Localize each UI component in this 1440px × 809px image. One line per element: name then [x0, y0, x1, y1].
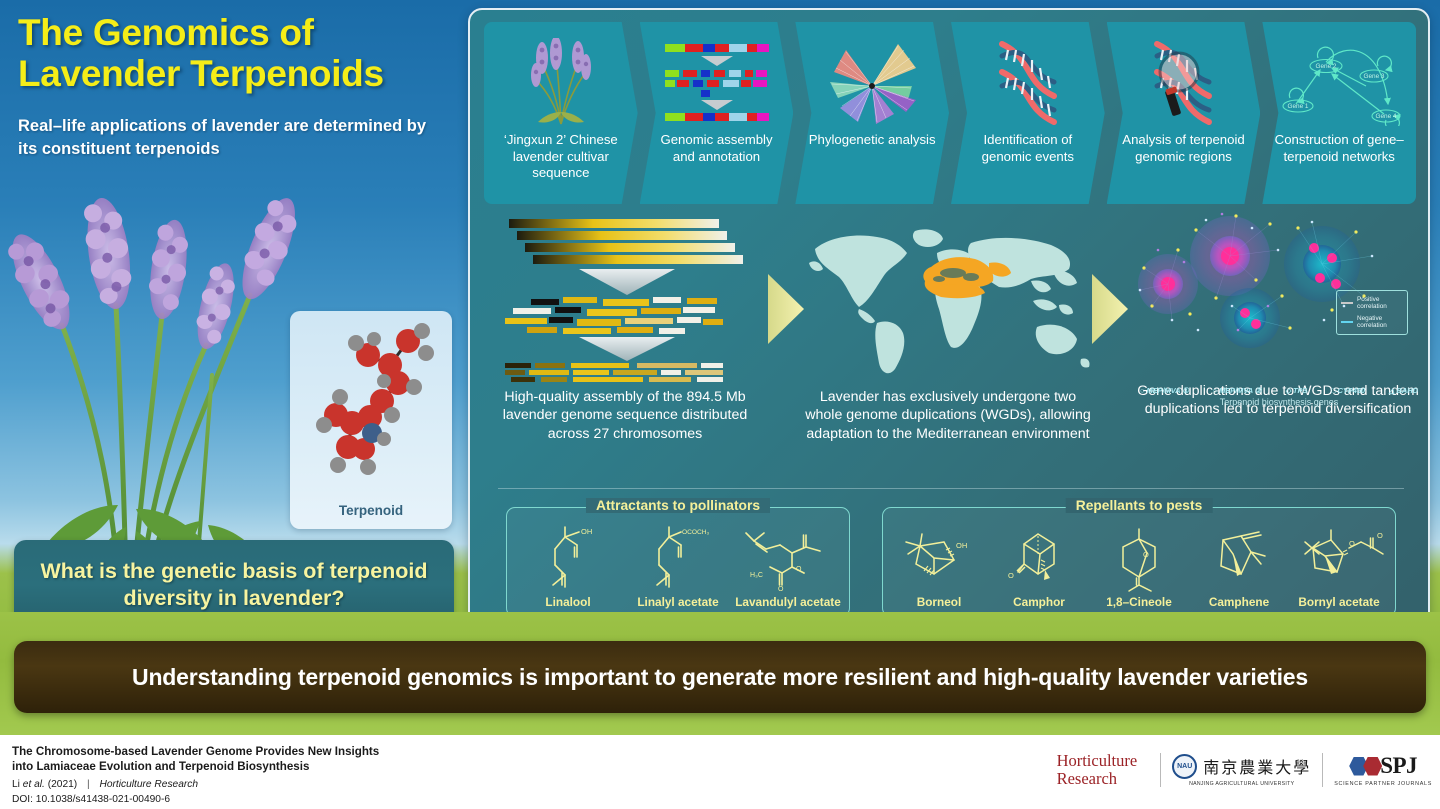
logo-divider-2	[1322, 753, 1323, 787]
molecule-name-bornyl-acetate: Bornyl acetate	[1298, 595, 1379, 609]
flow-arrow-2-icon	[1090, 272, 1130, 346]
terpenoid-label: Terpenoid	[290, 503, 452, 518]
main-content-panel: ‘Jingxun 2’ Chinese lavender cultivar se…	[468, 8, 1430, 628]
subtitle: Real–life applications of lavender are d…	[18, 115, 448, 161]
legend-positive-label: Positive correlation	[1357, 296, 1403, 311]
lavandulyl-o2-label: O	[778, 586, 784, 593]
hr-logo-line-2: Research	[1057, 770, 1138, 788]
molecule-name-camphor: Camphor	[1013, 595, 1065, 609]
workflow-step-4-label: Identification of genomic events	[951, 132, 1105, 165]
citation-author-name: Li	[12, 779, 20, 790]
diamond-symbol-icon: ◇	[1285, 386, 1291, 395]
hr-logo-line-1: Horticulture	[1057, 752, 1138, 770]
title-line-2: Lavender Terpenoids	[18, 53, 458, 94]
nau-chinese-name: 南京農業大學	[1203, 754, 1311, 778]
citation-journal: Horticulture Research	[100, 779, 199, 790]
gene-type-mep-mva-1: ○ MEP/MVA ①	[1140, 386, 1189, 395]
terpenoid-card: Terpenoid	[290, 311, 452, 529]
molecule-linalyl-acetate: OCOCH₃ Linalyl acetate	[623, 523, 733, 609]
linalool-structure-icon: OH	[535, 523, 601, 593]
square-symbol-icon: □	[1331, 386, 1335, 395]
gene-type-label-4: CYP450	[1338, 386, 1366, 395]
gene-type-mep-mva-2: ○ MEP/MVA ②	[1213, 386, 1262, 395]
page-title: The Genomics of Lavender Terpenoids	[18, 12, 458, 95]
result-caption-assembly: High-quality assembly of the 894.5 Mb la…	[482, 388, 768, 443]
molecule-name-linalyl-acetate: Linalyl acetate	[637, 595, 718, 609]
molecule-bornyl-acetate: O O Bornyl acetate	[1289, 523, 1389, 609]
spj-wordmark: SPJ	[1380, 753, 1417, 779]
gene-type-label-2: MEP/MVA ②	[1219, 386, 1261, 395]
infographic-poster: The Genomics of Lavender Terpenoids Real…	[0, 0, 1440, 809]
research-question-text: What is the genetic basis of terpenoid d…	[14, 558, 454, 612]
logo-divider-1	[1160, 753, 1161, 787]
gene-type-cyp450: □ CYP450	[1331, 386, 1365, 395]
workflow-step-1-label: ‘Jingxun 2’ Chinese lavender cultivar se…	[484, 132, 638, 182]
camphene-structure-icon	[1203, 523, 1275, 593]
conclusion-banner: Understanding terpenoid genomics is impo…	[14, 641, 1426, 713]
world-map-figure	[798, 210, 1098, 388]
borneol-oh-label: OH	[956, 541, 967, 550]
circle-symbol-icon: ○	[1140, 386, 1144, 395]
gene-network-figure: Positive correlation Negative correlatio…	[1132, 210, 1424, 382]
horticulture-research-logo: Horticulture Research	[1057, 752, 1150, 788]
spj-hexagon-icon	[1349, 757, 1377, 776]
attractants-title: Attractants to pollinators	[586, 498, 770, 513]
gene-node-2-label: Gene 2	[1316, 63, 1337, 70]
result-panel-networks: Positive correlation Negative correlatio…	[1132, 210, 1424, 478]
citation-title: The Chromosome-based Lavender Genome Pro…	[12, 744, 712, 775]
bornyl-o-label: O	[1349, 539, 1355, 548]
spj-logo-row: SPJ	[1349, 753, 1417, 779]
nau-logo-row: NAU 南京農業大學	[1172, 754, 1311, 779]
workflow-step-4: Identification of genomic events	[951, 22, 1105, 204]
legend-negative-correlation: Negative correlation	[1341, 315, 1403, 330]
workflow-step-6: Gene 1 Gene 2 Gene 3 Gene 4 Construction…	[1262, 22, 1416, 204]
molecule-camphene: Camphene	[1189, 523, 1289, 609]
workflow-step-2-label: Genomic assembly and annotation	[640, 132, 794, 165]
section-divider	[498, 488, 1404, 489]
gene-type-label-3: TPS	[1293, 386, 1307, 395]
molecule-name-borneol: Borneol	[917, 595, 962, 609]
citation-etal: et al.	[23, 779, 45, 790]
gene-type-bahd: △ BAHD	[1389, 386, 1418, 395]
molecule-linalool: OH Linalool	[513, 523, 623, 609]
workflow-step-5-label: Analysis of terpenoid genomic regions	[1107, 132, 1261, 165]
gene-type-tps: ◇ TPS	[1285, 386, 1307, 395]
title-line-1: The Genomics of	[18, 12, 458, 53]
molecule-name-cineole: 1,8–Cineole	[1106, 595, 1172, 609]
repellants-group: Repellants to pests	[882, 507, 1396, 617]
conclusion-text: Understanding terpenoid genomics is impo…	[132, 664, 1308, 691]
repellants-title: Repellants to pests	[1066, 498, 1213, 513]
molecule-name-camphene: Camphene	[1209, 595, 1269, 609]
citation-title-line-1: The Chromosome-based Lavender Genome Pro…	[12, 744, 712, 759]
footer: The Chromosome-based Lavender Genome Pro…	[0, 735, 1440, 809]
nanjing-agricultural-university-logo: NAU 南京農業大學 NANJING AGRICULTURAL UNIVERSI…	[1172, 754, 1311, 787]
citation-block: The Chromosome-based Lavender Genome Pro…	[12, 744, 712, 805]
citation-doi: DOI: 10.1038/s41438-021-00490-6	[12, 794, 712, 805]
result-panel-map: Lavender has exclusively undergone two w…	[798, 210, 1098, 478]
citation-title-line-2: into Lamiaceae Evolution and Terpenoid B…	[12, 759, 712, 774]
legend-negative-label: Negative correlation	[1357, 315, 1403, 330]
triangle-symbol-icon: △	[1389, 386, 1395, 395]
cineole-o-label: O	[1143, 550, 1149, 559]
citation-year: (2021)	[48, 779, 77, 790]
network-correlation-legend: Positive correlation Negative correlatio…	[1336, 290, 1408, 335]
cineole-structure-icon: O	[1105, 523, 1173, 593]
molecule-borneol: OH Borneol	[889, 523, 989, 609]
bornyl-acetate-structure-icon: O O	[1293, 523, 1385, 593]
molecule-lavandulyl-acetate: H₃C O O Lavandulyl acetate	[733, 523, 843, 609]
bornyl-o2-label: O	[1377, 531, 1383, 540]
citation-separator: |	[87, 779, 90, 790]
citation-authors: Li et al. (2021) | Horticulture Research	[12, 779, 712, 790]
workflow-step-2: Genomic assembly and annotation	[640, 22, 794, 204]
molecule-cineole: O 1,8–Cineole	[1089, 523, 1189, 609]
legend-positive-correlation: Positive correlation	[1341, 296, 1403, 311]
nau-seal-icon: NAU	[1172, 754, 1197, 779]
nau-english-name: NANJING AGRICULTURAL UNIVERSITY	[1189, 781, 1294, 787]
camphor-structure-icon: O	[1008, 523, 1070, 593]
results-row: High-quality assembly of the 894.5 Mb la…	[478, 210, 1424, 478]
workflow-step-3: Phylogenetic analysis	[795, 22, 949, 204]
result-panel-assembly: High-quality assembly of the 894.5 Mb la…	[482, 210, 768, 478]
linalyl-acetate-structure-icon: OCOCH₃	[641, 523, 715, 593]
gene-network-icon: Gene 1 Gene 2 Gene 3 Gene 4	[1262, 34, 1416, 130]
positive-correlation-line-icon	[1341, 302, 1353, 304]
result-caption-map: Lavender has exclusively undergone two w…	[798, 388, 1098, 443]
publisher-logos: Horticulture Research NAU 南京農業大學 NANJING…	[1057, 747, 1432, 793]
phylogenetic-tree-icon	[795, 34, 949, 130]
linalyl-acetate-ococh3-label: OCOCH₃	[682, 529, 710, 536]
attractants-group: Attractants to pollinators	[506, 507, 850, 617]
workflow-step-5: Analysis of terpenoid genomic regions	[1107, 22, 1261, 204]
genome-assembly-contigs-figure	[482, 210, 768, 388]
negative-correlation-line-icon	[1341, 321, 1353, 323]
borneol-structure-icon: OH	[900, 523, 978, 593]
dna-magnifier-icon	[1107, 34, 1261, 130]
workflow-steps: ‘Jingxun 2’ Chinese lavender cultivar se…	[484, 22, 1418, 204]
genome-annotation-icon	[640, 34, 794, 130]
lavender-plant-icon	[484, 34, 638, 130]
molecule-camphor: O Camphor	[989, 523, 1089, 609]
camphor-o-label: O	[1008, 571, 1014, 580]
workflow-step-3-label: Phylogenetic analysis	[801, 132, 944, 149]
gene-type-row: ○ MEP/MVA ① ○ MEP/MVA ② ◇ TPS	[1138, 386, 1420, 395]
dna-helix-icon	[951, 34, 1105, 130]
gene-node-1-label: Gene 1	[1288, 103, 1309, 110]
terpenoid-3d-molecule-icon	[290, 311, 452, 501]
molecule-name-linalool: Linalool	[545, 595, 590, 609]
gene-node-4-label: Gene 4	[1376, 113, 1397, 120]
lavandulyl-o-label: O	[796, 566, 802, 573]
workflow-step-1: ‘Jingxun 2’ Chinese lavender cultivar se…	[484, 22, 638, 204]
lavandulyl-h3c-label: H₃C	[750, 572, 763, 579]
workflow-step-6-label: Construction of gene–terpenoid networks	[1262, 132, 1416, 165]
linalool-oh-label: OH	[581, 527, 592, 536]
lavandulyl-acetate-structure-icon: H₃C O O	[740, 523, 836, 593]
gene-type-key: ○ MEP/MVA ① ○ MEP/MVA ② ◇ TPS	[1138, 386, 1420, 407]
spj-subtitle: SCIENCE PARTNER JOURNALS	[1334, 781, 1432, 787]
gene-node-3-label: Gene 3	[1364, 73, 1385, 80]
gene-type-label-5: BAHD	[1397, 386, 1418, 395]
circle-symbol-icon: ○	[1213, 386, 1217, 395]
molecule-name-lavandulyl-acetate: Lavandulyl acetate	[735, 595, 841, 609]
gene-key-caption: Terpenoid biosynthesis genes	[1138, 397, 1420, 407]
gene-type-label-1: MEP/MVA ①	[1146, 386, 1188, 395]
spj-logo: SPJ SCIENCE PARTNER JOURNALS	[1334, 753, 1432, 787]
